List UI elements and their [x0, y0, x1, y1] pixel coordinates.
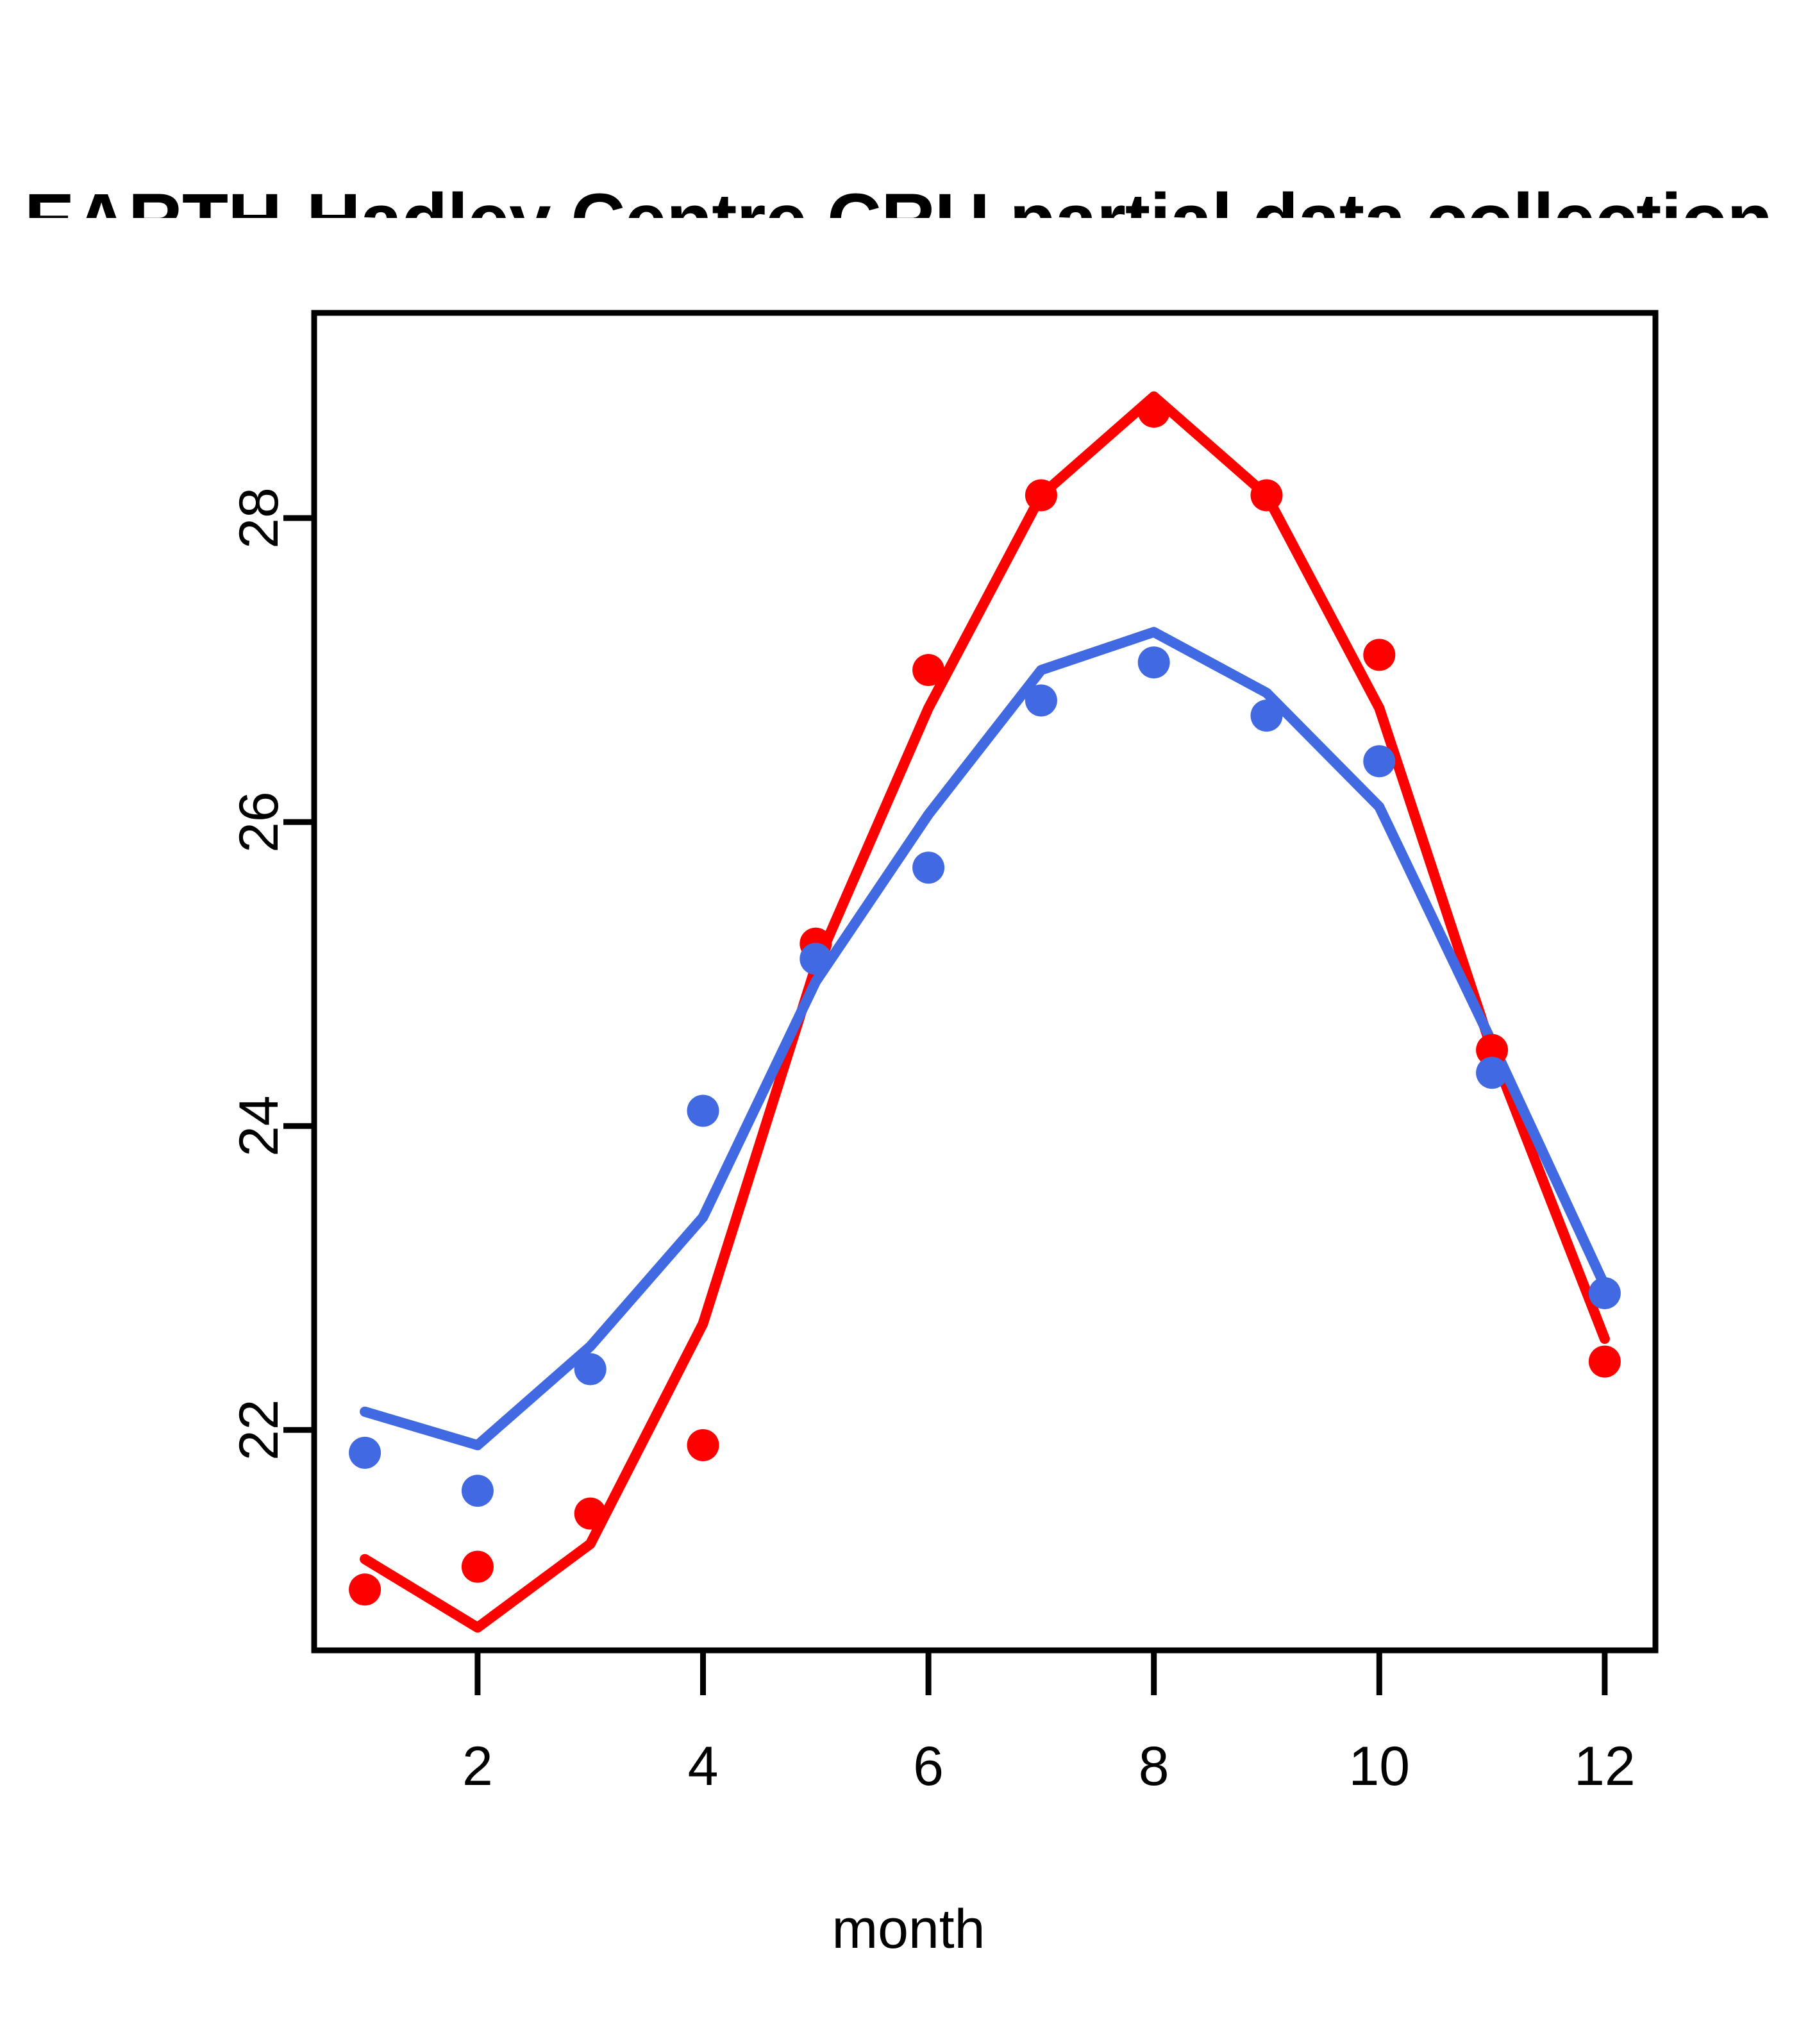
blue-series-point	[687, 1094, 719, 1127]
y-tick-label: 24	[228, 1095, 290, 1157]
red-series-point	[349, 1573, 381, 1605]
x-tick-label: 12	[1574, 1736, 1636, 1797]
red-series-point	[687, 1429, 719, 1461]
red-series-point	[1250, 479, 1282, 511]
blue-series-point	[1476, 1057, 1508, 1089]
blue-series-point	[1138, 646, 1170, 678]
blue-series-point	[1589, 1277, 1621, 1309]
red-series-point	[912, 654, 944, 686]
red-series-point	[1025, 479, 1057, 511]
x-tick-label: 8	[1139, 1736, 1169, 1797]
y-tick-label: 26	[228, 791, 290, 853]
plot-frame	[314, 313, 1655, 1650]
y-tick-label: 28	[228, 487, 290, 549]
blue-series-point	[574, 1353, 607, 1385]
red-series-line	[365, 396, 1605, 1627]
x-tick-label: 10	[1348, 1736, 1410, 1797]
chart-canvas: EARTH-Hadley Centre CRU partial data col…	[0, 0, 1817, 2044]
red-series-point	[1589, 1346, 1621, 1378]
blue-series-point	[1363, 745, 1395, 777]
plot-area: 2224262824681012	[0, 0, 1817, 2044]
red-series-point	[574, 1498, 607, 1530]
blue-series-point	[1250, 699, 1282, 732]
red-series-point	[462, 1551, 494, 1583]
y-tick-label: 22	[228, 1399, 290, 1461]
blue-series-point	[1025, 684, 1057, 716]
x-tick-label: 4	[688, 1736, 719, 1797]
blue-series-point	[800, 942, 832, 975]
blue-series-line	[365, 632, 1605, 1445]
x-axis-label: month	[0, 1898, 1817, 1961]
x-tick-label: 6	[913, 1736, 944, 1797]
blue-series-point	[912, 851, 944, 884]
red-series-point	[1363, 639, 1395, 671]
x-tick-label: 2	[462, 1736, 493, 1797]
red-series-point	[1138, 396, 1170, 428]
blue-series-point	[349, 1437, 381, 1469]
blue-series-point	[462, 1475, 494, 1507]
